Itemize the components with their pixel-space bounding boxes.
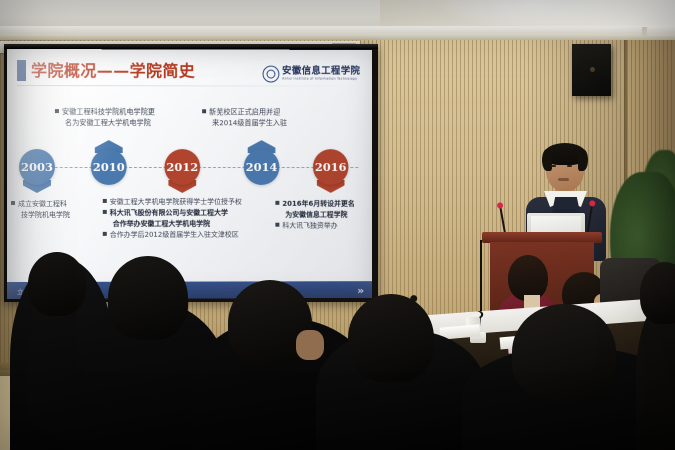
presenter-hair-side-right (578, 149, 588, 171)
bullet-line: 合作办学后2012级首届学生入驻文津校区 (103, 230, 301, 241)
conference-room-photo: 学院概况——学院简史 安徽信息工程学院 Anhui Institute of I… (0, 0, 675, 450)
ceiling-sensor-icon (642, 27, 647, 37)
bullet-text: 科大讯飞独资举办 (282, 222, 337, 230)
timeline-year-label: 2016 (313, 149, 348, 185)
timeline-node-2003: 2003 (17, 149, 57, 189)
timeline-node-2012: 2012 (162, 149, 202, 189)
teacup-lid (465, 312, 481, 317)
bullet-square-icon (11, 201, 15, 205)
audience-member-5-head (512, 304, 616, 400)
bottom-bullets-2010-2012: 安徽工程大学机电学院获得学士学位授予权 科大讯飞股份有限公司与安徽工程大学 合作… (103, 197, 301, 241)
logo-name-cn: 安徽信息工程学院 (282, 67, 360, 77)
logo-name-en: Anhui Institute of Information Technolog… (282, 77, 360, 81)
bottom-bullets-2016: 2016年6月转设并更名 为安徽信息工程学院 科大讯飞独资举办 (275, 199, 372, 232)
bullet-line: 成立安徽工程科 (11, 199, 101, 210)
title-accent-tab (17, 60, 26, 81)
presenter-eye-right (567, 165, 572, 167)
bullet-line: 安徽工程大学机电学院获得学士学位授予权 (103, 197, 301, 208)
page-title: 学院概况——学院简史 (31, 57, 195, 81)
university-logo: 安徽信息工程学院 Anhui Institute of Information … (262, 63, 360, 85)
bullet-text: 安徽工程大学机电学院获得学士学位授予权 (110, 198, 242, 206)
bullet-text: 科大讯飞股份有限公司与安徽工程大学 (110, 209, 228, 217)
timeline-year-label: 2012 (164, 149, 200, 185)
timeline-node-2016: 2016 (311, 149, 350, 189)
bullet-square-icon (275, 223, 279, 227)
top-bullet-line2: 名为安徽工程大学机电学院 (55, 118, 204, 129)
bullet-line: 科大讯飞股份有限公司与安徽工程大学 (103, 208, 301, 219)
bullet-text-cont: 合作举办安徽工程大学机电学院 (103, 219, 301, 230)
audience-member-4-head (348, 294, 434, 382)
bullet-text: 合作办学后2012级首届学生入驻文津校区 (110, 231, 239, 239)
bullet-square-icon (202, 109, 206, 113)
bullet-line: 2016年6月转设并更名 (275, 199, 372, 210)
wall-speaker-icon (572, 44, 611, 96)
speaker-cone (590, 67, 595, 72)
presenter-eye-left (551, 165, 556, 167)
timeline-year-label: 2014 (244, 149, 280, 185)
timeline-year-label: 2010 (91, 149, 127, 185)
bullet-text-cont: 技学院机电学院 (11, 210, 101, 221)
bottom-bullets-2003: 成立安徽工程科 技学院机电学院 (11, 199, 101, 221)
logo-seal-icon (262, 65, 279, 82)
audience-member-1-head (28, 252, 86, 316)
top-bullet-2010: 安徽工程科技学院机电学院更 名为安徽工程大学机电学院 (55, 107, 204, 128)
presenter-hair-side-left (542, 149, 552, 171)
bullet-square-icon (55, 109, 59, 113)
timeline-year-label: 2003 (19, 149, 55, 185)
audience-member-2-head (108, 256, 188, 340)
bullet-text-cont: 为安徽信息工程学院 (275, 210, 372, 221)
top-bullet-line1: 新芜校区正式启用并迎 (209, 107, 280, 116)
bullet-line: 科大讯飞独资举办 (275, 221, 372, 232)
bullet-text: 2016年6月转设并更名 (282, 200, 354, 208)
timeline-node-2010: 2010 (89, 149, 129, 189)
timeline-node-2014: 2014 (242, 149, 282, 189)
top-bullet-line1: 安徽工程科技学院机电学院更 (62, 107, 155, 116)
bullet-square-icon (103, 199, 107, 203)
slide-title-row: 学院概况——学院简史 安徽信息工程学院 Anhui Institute of I… (17, 59, 364, 86)
audience-member-3-ear (296, 330, 324, 360)
bullet-square-icon (103, 210, 107, 214)
bullet-square-icon (103, 232, 107, 236)
footer-chevron-icon: » (357, 284, 363, 297)
bullet-square-icon (275, 201, 279, 205)
bullet-text: 成立安徽工程科 (18, 200, 67, 208)
presenter-mouth (558, 178, 569, 181)
top-bullet-line2: 来2014级首届学生入驻 (202, 118, 331, 129)
title-divider (17, 85, 364, 87)
top-bullet-2014: 新芜校区正式启用并迎 来2014级首届学生入驻 (202, 107, 331, 128)
